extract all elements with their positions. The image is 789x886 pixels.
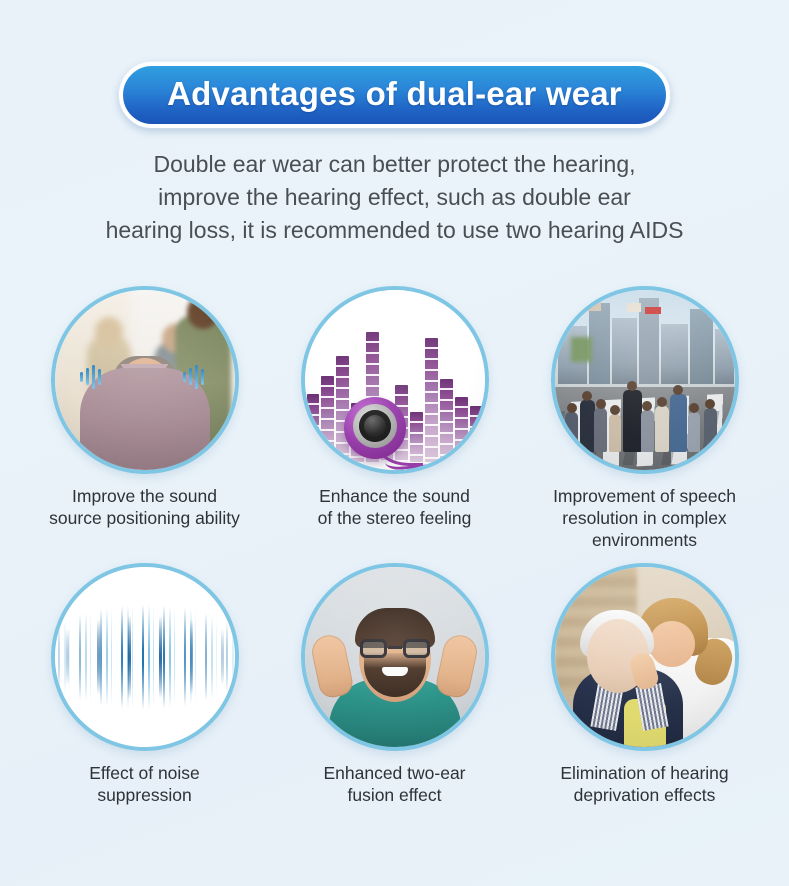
caption-line: deprivation effects <box>560 784 728 806</box>
feature-image-circle-6 <box>551 563 739 751</box>
caption-line: source positioning ability <box>49 507 240 529</box>
feature-image-circle-2 <box>301 286 489 474</box>
feature-caption-3: Improvement of speech resolution in comp… <box>553 485 736 551</box>
feature-image-circle-1 <box>51 286 239 474</box>
feature-caption-4: Effect of noise suppression <box>89 762 200 806</box>
feature-image-circle-3 <box>551 286 739 474</box>
feature-caption-2: Enhance the sound of the stereo feeling <box>318 485 472 529</box>
speaker-icon <box>344 397 406 459</box>
eyeglasses-icon <box>360 639 430 659</box>
caption-line: Enhanced two-ear <box>323 762 465 784</box>
subtitle-line-2: improve the hearing effect, such as doub… <box>0 181 789 214</box>
feature-caption-6: Elimination of hearing deprivation effec… <box>560 762 728 806</box>
feature-image-circle-4 <box>51 563 239 751</box>
caption-line: resolution in complex <box>553 507 736 529</box>
feature-item-speech-resolution: Improvement of speech resolution in comp… <box>539 286 751 551</box>
feature-image-circle-5 <box>301 563 489 751</box>
feature-caption-1: Improve the sound source positioning abi… <box>49 485 240 529</box>
caption-line: environments <box>553 529 736 551</box>
caption-line: Improvement of speech <box>553 485 736 507</box>
subtitle-line-3: hearing loss, it is recommended to use t… <box>0 214 789 247</box>
feature-item-sound-source-positioning: Improve the sound source positioning abi… <box>39 286 251 551</box>
elderly-woman-caregiver-photo-icon <box>555 567 735 747</box>
caption-line: of the stereo feeling <box>318 507 472 529</box>
city-crosswalk-crowd-photo-icon <box>555 290 735 470</box>
subtitle-line-1: Double ear wear can better protect the h… <box>0 148 789 181</box>
blue-sound-waveform-graphic-icon <box>55 567 235 747</box>
feature-row-2: Effect of noise suppression <box>0 563 789 806</box>
caption-line: Enhance the sound <box>318 485 472 507</box>
feature-row-1: Improve the sound source positioning abi… <box>0 286 789 551</box>
feature-item-hearing-deprivation: Elimination of hearing deprivation effec… <box>539 563 751 806</box>
office-people-sound-waves-photo-icon <box>55 290 235 470</box>
caption-line: Effect of noise <box>89 762 200 784</box>
caption-line: Improve the sound <box>49 485 240 507</box>
feature-item-noise-suppression: Effect of noise suppression <box>39 563 251 806</box>
sound-wave-right-icon <box>183 364 209 390</box>
feature-item-stereo-feeling: Enhance the sound of the stereo feeling <box>289 286 501 551</box>
feature-grid: Improve the sound source positioning abi… <box>0 286 789 806</box>
page-title: Advantages of dual-ear wear <box>167 77 622 110</box>
page-title-banner: Advantages of dual-ear wear <box>0 62 789 128</box>
feature-item-two-ear-fusion: Enhanced two-ear fusion effect <box>289 563 501 806</box>
feature-caption-5: Enhanced two-ear fusion effect <box>323 762 465 806</box>
sound-wave-left-icon <box>80 364 106 390</box>
purple-equalizer-speaker-graphic-icon <box>305 290 485 470</box>
promo-page: Advantages of dual-ear wear Double ear w… <box>0 0 789 886</box>
subtitle-block: Double ear wear can better protect the h… <box>0 148 789 247</box>
title-pill: Advantages of dual-ear wear <box>119 62 670 128</box>
man-cupping-ears-photo-icon <box>305 567 485 747</box>
caption-line: fusion effect <box>323 784 465 806</box>
caption-line: Elimination of hearing <box>560 762 728 784</box>
caption-line: suppression <box>89 784 200 806</box>
